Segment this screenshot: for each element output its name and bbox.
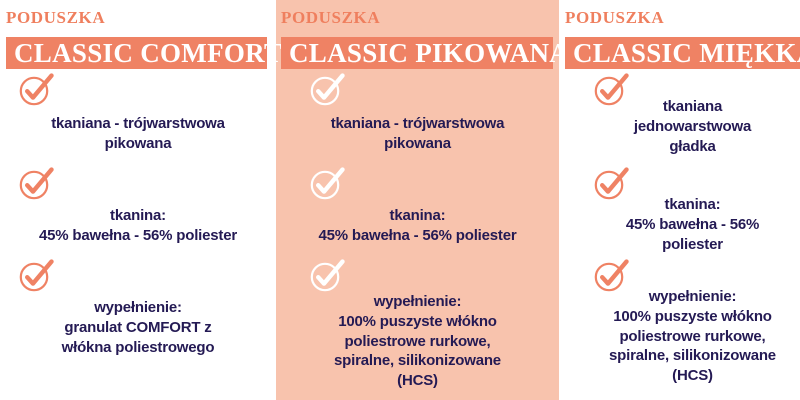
check-circle-icon — [18, 259, 54, 293]
column-title-band: CLASSIC COMFORT — [6, 37, 267, 69]
feature-text: tkanina: 45% bawełna - 56% poliester — [559, 195, 800, 254]
feature-text: tkaniana - trójwarstwowa pikowana — [276, 114, 559, 154]
product-column-classic-comfort[interactable]: PODUSZKA CLASSIC COMFORT tkaniana - trój… — [0, 0, 276, 400]
column-title-band: CLASSIC MIĘKKA — [565, 37, 800, 69]
feature-list: tkaniana jednowarstwowa gładka tkanina: … — [559, 69, 800, 400]
column-title: CLASSIC MIĘKKA — [573, 40, 800, 67]
feature-text: wypełnienie: granulat COMFORT z włókna p… — [0, 298, 276, 357]
check-circle-icon — [309, 73, 345, 107]
column-kicker: PODUSZKA — [565, 8, 664, 28]
feature-list: tkaniana - trójwarstwowa pikowana tkanin… — [0, 69, 276, 400]
column-title: CLASSIC PIKOWANA — [289, 40, 569, 67]
check-circle-icon — [309, 259, 345, 293]
check-circle-icon — [18, 73, 54, 107]
feature-text: tkanina: 45% bawełna - 56% poliester — [276, 206, 559, 246]
product-column-classic-pikowana[interactable]: PODUSZKA CLASSIC PIKOWANA tkaniana - tró… — [276, 0, 559, 400]
column-kicker: PODUSZKA — [6, 8, 105, 28]
check-circle-icon — [309, 167, 345, 201]
product-column-classic-miekka[interactable]: PODUSZKA CLASSIC MIĘKKA tkaniana jednowa… — [559, 0, 800, 400]
column-title: CLASSIC COMFORT — [14, 40, 282, 67]
feature-text: tkaniana jednowarstwowa gładka — [559, 97, 800, 156]
feature-list: tkaniana - trójwarstwowa pikowana tkanin… — [276, 69, 559, 400]
feature-text: wypełnienie: 100% puszyste włókno polies… — [559, 287, 800, 386]
pillow-comparison-infographic: PODUSZKA CLASSIC COMFORT tkaniana - trój… — [0, 0, 800, 400]
feature-text: wypełnienie: 100% puszyste włókno polies… — [276, 292, 559, 391]
column-kicker: PODUSZKA — [281, 8, 380, 28]
feature-text: tkaniana - trójwarstwowa pikowana — [0, 114, 276, 154]
check-circle-icon — [18, 167, 54, 201]
column-title-band: CLASSIC PIKOWANA — [281, 37, 553, 69]
columns-container: PODUSZKA CLASSIC COMFORT tkaniana - trój… — [0, 0, 800, 400]
feature-text: tkanina: 45% bawełna - 56% poliester — [0, 206, 276, 246]
